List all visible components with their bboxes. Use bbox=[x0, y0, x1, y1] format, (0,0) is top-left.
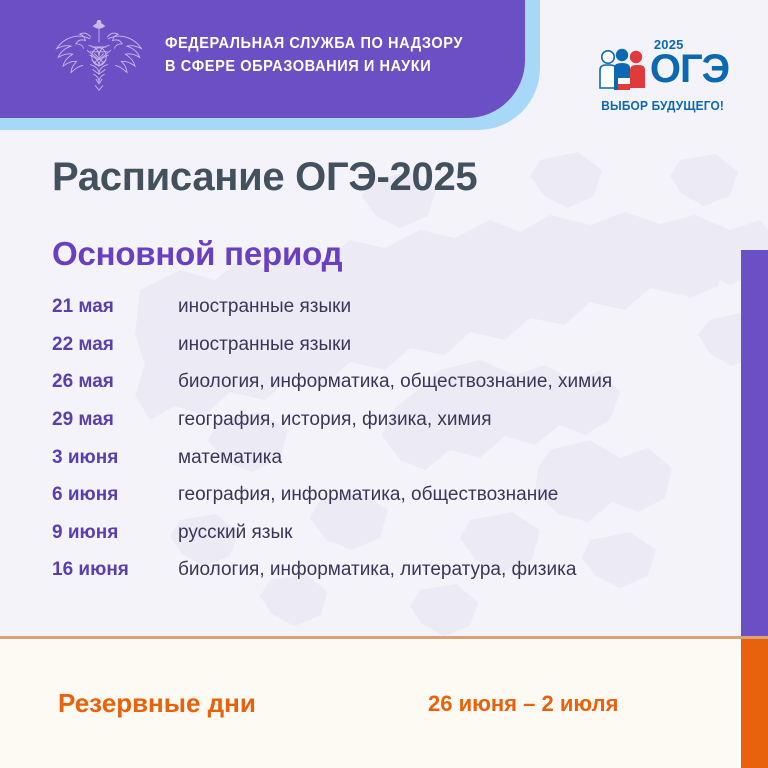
footer: Резервные дни 26 июня – 2 июля bbox=[0, 639, 768, 768]
schedule-subjects: география, история, физика, химия bbox=[178, 407, 492, 433]
right-accent-bar-purple bbox=[741, 250, 768, 637]
schedule-date: 21 мая bbox=[52, 294, 178, 320]
schedule-row: 29 мая география, история, физика, химия bbox=[52, 407, 712, 433]
header-org-line-2: В СФЕРЕ ОБРАЗОВАНИЯ И НАУКИ bbox=[165, 58, 463, 76]
schedule-date: 3 июня bbox=[52, 445, 178, 471]
poster-root: ФЕДЕРАЛЬНАЯ СЛУЖБА ПО НАДЗОРУ В СФЕРЕ ОБ… bbox=[0, 0, 768, 768]
schedule-subjects: математика bbox=[178, 445, 282, 471]
schedule-date: 29 мая bbox=[52, 407, 178, 433]
schedule-row: 3 июня математика bbox=[52, 445, 712, 471]
oge-three-figures-icon bbox=[597, 44, 647, 94]
schedule-subjects: русский язык bbox=[178, 520, 292, 546]
schedule-row: 21 мая иностранные языки bbox=[52, 294, 712, 320]
header-purple-panel: ФЕДЕРАЛЬНАЯ СЛУЖБА ПО НАДЗОРУ В СФЕРЕ ОБ… bbox=[0, 0, 525, 118]
oge-logo: 2025 ОГЭ ВЫБОР БУДУЩЕГО! bbox=[588, 38, 738, 126]
schedule-date: 16 июня bbox=[52, 557, 178, 583]
schedule-row: 6 июня география, информатика, обществоз… bbox=[52, 482, 712, 508]
schedule-subjects: биология, информатика, обществознание, х… bbox=[178, 369, 612, 395]
schedule-date: 6 июня bbox=[52, 482, 178, 508]
footer-reserve-days-title: Резервные дни bbox=[58, 688, 256, 719]
schedule-list: 21 мая иностранные языки 22 мая иностран… bbox=[52, 294, 712, 595]
schedule-date: 9 июня bbox=[52, 520, 178, 546]
section-title-main-period: Основной период bbox=[52, 235, 342, 273]
footer-reserve-days-dates: 26 июня – 2 июля bbox=[428, 691, 618, 717]
schedule-subjects: география, информатика, обществознание bbox=[178, 482, 558, 508]
header-org-line-1: ФЕДЕРАЛЬНАЯ СЛУЖБА ПО НАДЗОРУ bbox=[165, 35, 463, 53]
oge-logo-abbr: ОГЭ bbox=[650, 49, 729, 89]
page-title: Расписание ОГЭ-2025 bbox=[52, 155, 477, 200]
schedule-subjects: биология, информатика, литература, физик… bbox=[178, 557, 576, 583]
schedule-row: 22 мая иностранные языки bbox=[52, 332, 712, 358]
schedule-date: 26 мая bbox=[52, 369, 178, 395]
schedule-date: 22 мая bbox=[52, 332, 178, 358]
schedule-subjects: иностранные языки bbox=[178, 294, 351, 320]
header-org-name: ФЕДЕРАЛЬНАЯ СЛУЖБА ПО НАДЗОРУ В СФЕРЕ ОБ… bbox=[165, 35, 482, 76]
oge-logo-slogan: ВЫБОР БУДУЩЕГО! bbox=[602, 99, 725, 113]
schedule-subjects: иностранные языки bbox=[178, 332, 351, 358]
schedule-row: 26 мая биология, информатика, обществозн… bbox=[52, 369, 712, 395]
schedule-row: 9 июня русский язык bbox=[52, 520, 712, 546]
double-headed-eagle-emblem-icon bbox=[55, 18, 143, 92]
schedule-row: 16 июня биология, информатика, литератур… bbox=[52, 557, 712, 583]
